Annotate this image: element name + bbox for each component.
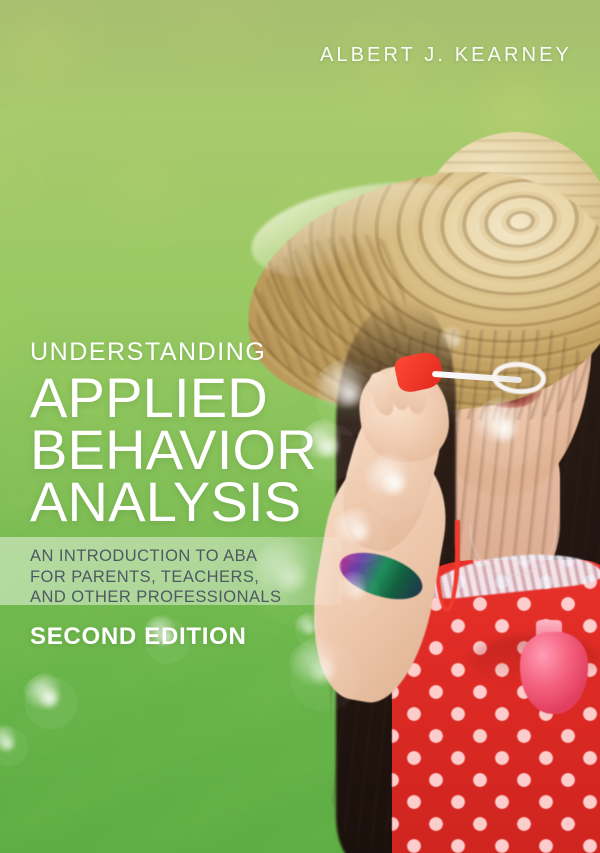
subtitle-line-1: AN INTRODUCTION TO ABA <box>30 546 281 567</box>
book-title: APPLIED BEHAVIOR ANALYSIS <box>30 372 317 528</box>
subtitle-line-3: AND OTHER PROFESSIONALS <box>30 587 281 608</box>
title-line-1: APPLIED <box>30 372 317 424</box>
title-line-3: ANALYSIS <box>30 476 317 528</box>
book-subtitle: AN INTRODUCTION TO ABA FOR PARENTS, TEAC… <box>30 546 281 608</box>
pre-title: UNDERSTANDING <box>30 338 266 367</box>
edition-label: SECOND EDITION <box>30 623 246 651</box>
subtitle-line-2: FOR PARENTS, TEACHERS, <box>30 567 281 588</box>
title-line-2: BEHAVIOR <box>30 424 317 476</box>
book-cover: ALBERT J. KEARNEY UNDERSTANDING APPLIED … <box>0 0 600 853</box>
author-name: ALBERT J. KEARNEY <box>320 44 572 67</box>
